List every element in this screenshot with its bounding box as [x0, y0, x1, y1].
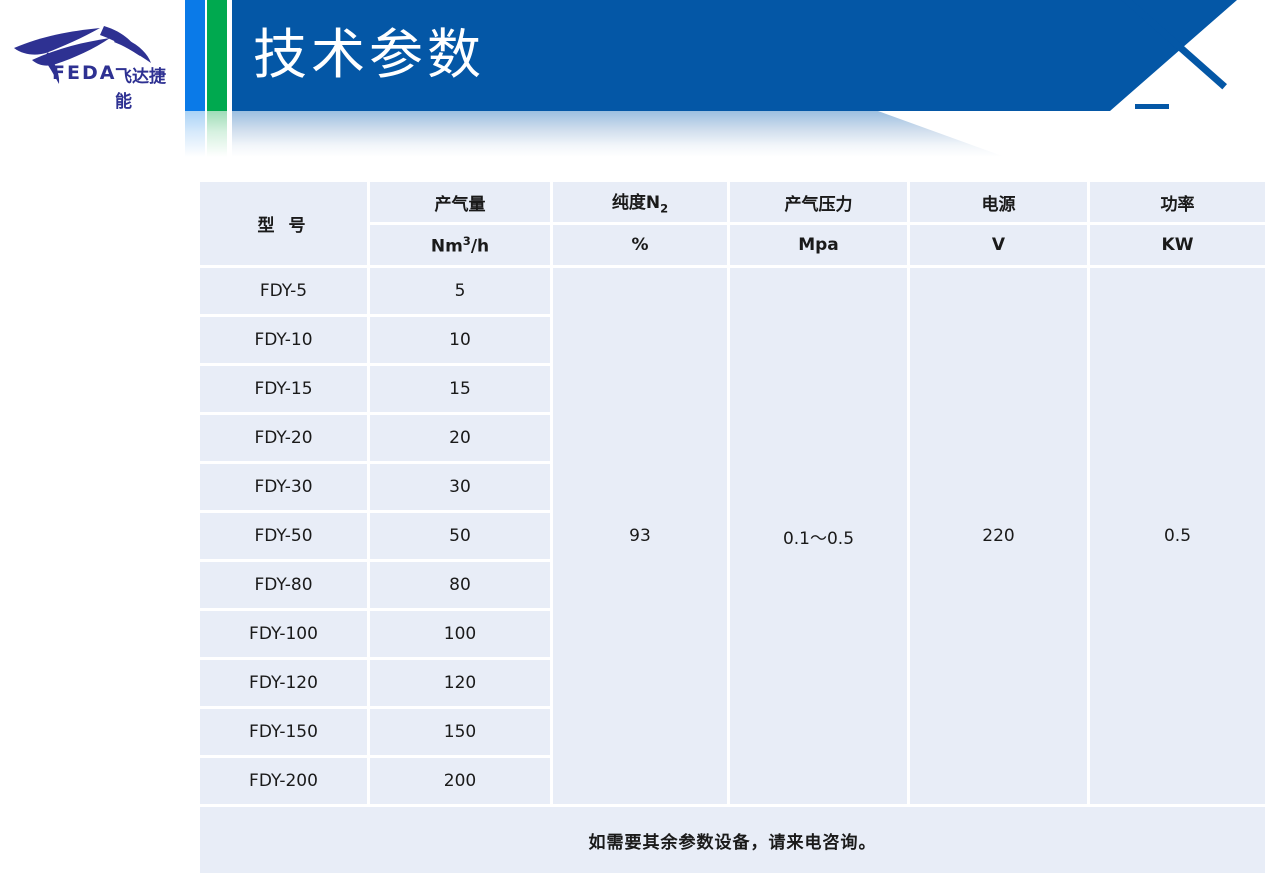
col-header-purity-text: 纯度 [612, 193, 646, 213]
cell-purity-merged: 93 [553, 268, 730, 807]
cell-model: FDY-20 [200, 415, 370, 464]
cell-model: FDY-30 [200, 464, 370, 513]
cell-flow: 120 [370, 660, 553, 709]
cell-model: FDY-200 [200, 758, 370, 807]
col-header-power: 功率 [1090, 182, 1265, 225]
cell-voltage-merged: 220 [910, 268, 1090, 807]
cell-model: FDY-100 [200, 611, 370, 660]
header-bar-blue-reflection [185, 111, 205, 157]
company-logo: FEDA 飞达捷能 [8, 22, 180, 88]
col-unit-power: KW [1090, 225, 1265, 268]
cell-flow: 30 [370, 464, 553, 513]
cell-flow: 200 [370, 758, 553, 807]
page-header-banner: 技术参数 FEDA 飞达捷能 [0, 0, 1265, 160]
page-title: 技术参数 [253, 16, 485, 94]
cell-model: FDY-15 [200, 366, 370, 415]
cell-pressure-merged: 0.1〜0.5 [730, 268, 910, 807]
col-unit-flow: Nm3/h [370, 225, 553, 268]
header-horizontal-tick [1135, 104, 1169, 109]
cell-model: FDY-150 [200, 709, 370, 758]
cell-power-merged: 0.5 [1090, 268, 1265, 807]
col-header-purity-symbol: N [646, 193, 660, 213]
col-unit-flow-pre: Nm [431, 236, 463, 256]
col-header-pressure: 产气压力 [730, 182, 910, 225]
cell-flow: 80 [370, 562, 553, 611]
col-header-purity: 纯度N2 [553, 182, 730, 225]
col-unit-purity: % [553, 225, 730, 268]
cell-flow: 150 [370, 709, 553, 758]
table-footer-row: 如需要其余参数设备，请来电咨询。 [200, 807, 1265, 873]
cell-flow: 10 [370, 317, 553, 366]
cell-flow: 5 [370, 268, 553, 317]
cell-model: FDY-10 [200, 317, 370, 366]
header-plate-reflection [232, 111, 1265, 157]
col-unit-pressure: Mpa [730, 225, 910, 268]
technical-parameters-table: 型 号 产气量 纯度N2 产气压力 电源 功率 Nm3/h % Mpa V KW… [200, 182, 1265, 873]
cell-flow: 50 [370, 513, 553, 562]
table-footer-note: 如需要其余参数设备，请来电咨询。 [200, 807, 1265, 873]
cell-model: FDY-120 [200, 660, 370, 709]
logo-brand-cn: 飞达捷能 [115, 62, 180, 112]
table-row: FDY-5 5 93 0.1〜0.5 220 0.5 [200, 268, 1265, 317]
header-diagonal-accent [1110, 0, 1265, 111]
logo-brand-latin: FEDA [52, 62, 116, 84]
cell-model: FDY-80 [200, 562, 370, 611]
col-header-voltage: 电源 [910, 182, 1090, 225]
col-header-purity-subscript: 2 [660, 202, 668, 216]
cell-model: FDY-5 [200, 268, 370, 317]
cell-flow: 20 [370, 415, 553, 464]
header-bar-blue [185, 0, 205, 111]
cell-model: FDY-50 [200, 513, 370, 562]
header-bar-green-reflection [207, 111, 227, 157]
col-header-model: 型 号 [200, 182, 370, 268]
header-bar-green [207, 0, 227, 111]
cell-flow: 15 [370, 366, 553, 415]
col-header-flow: 产气量 [370, 182, 553, 225]
cell-flow: 100 [370, 611, 553, 660]
col-unit-voltage: V [910, 225, 1090, 268]
col-unit-flow-sup: 3 [463, 234, 471, 248]
col-unit-flow-post: /h [471, 236, 489, 256]
table-header-row-title: 型 号 产气量 纯度N2 产气压力 电源 功率 [200, 182, 1265, 225]
